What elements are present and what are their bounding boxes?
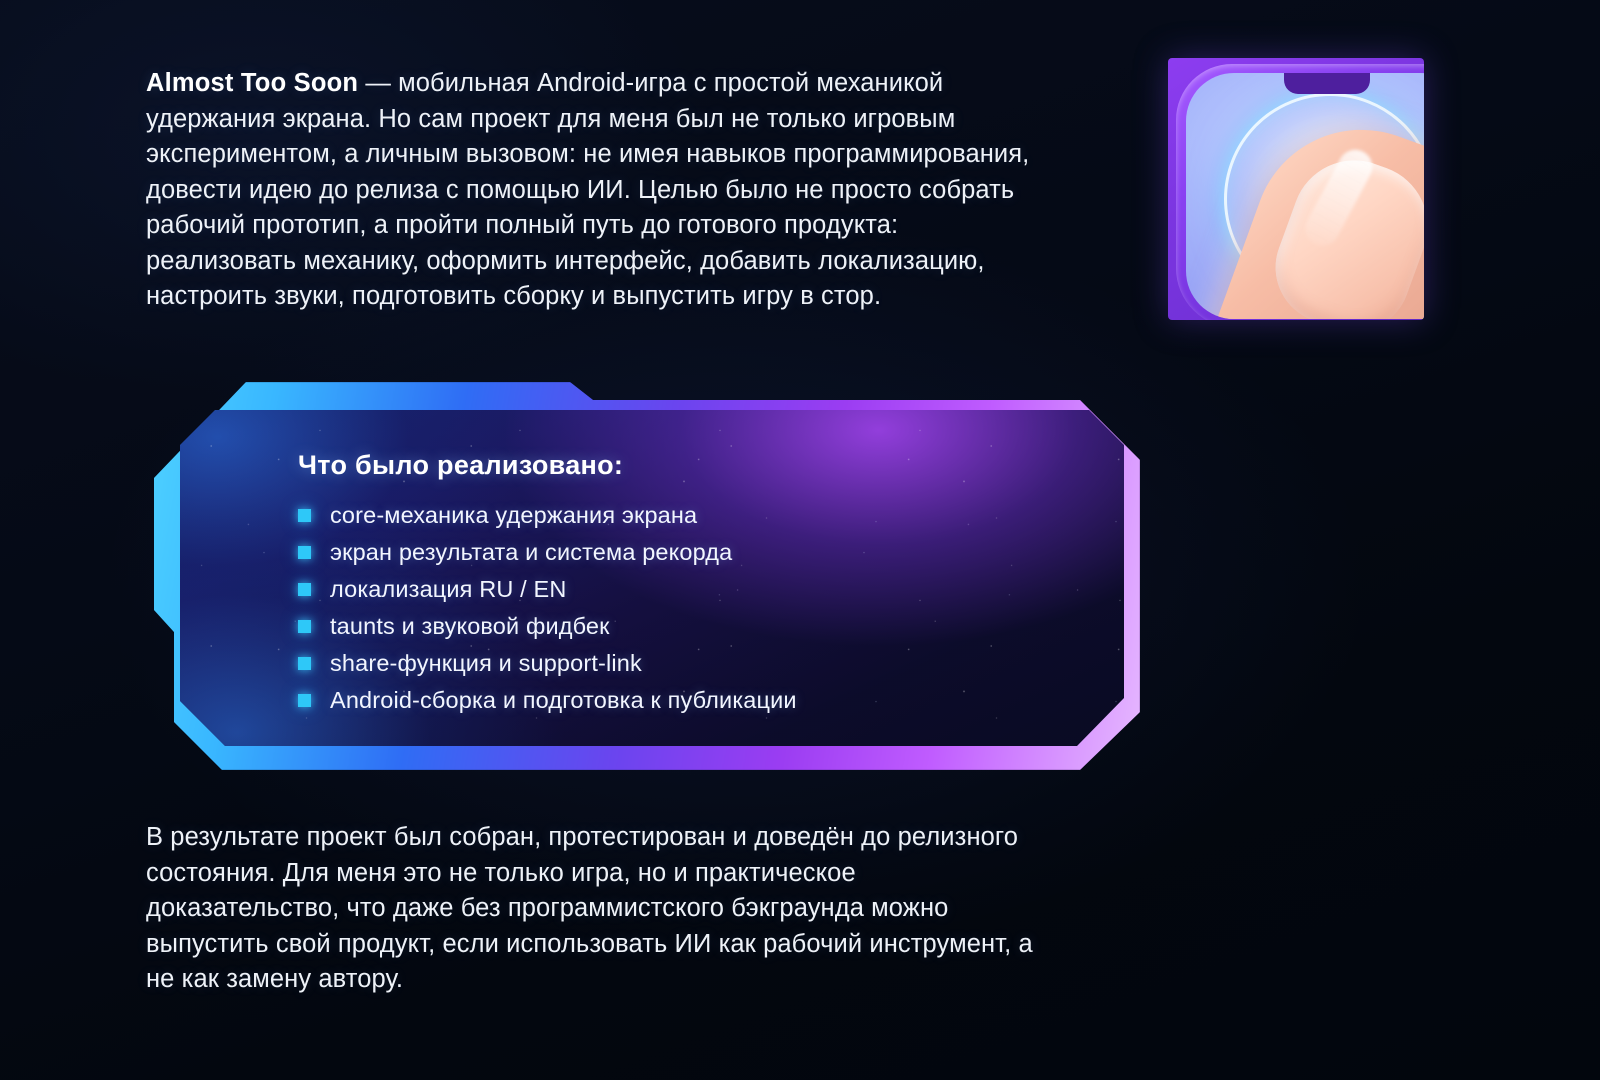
bullet-square-icon [298, 657, 311, 670]
list-item: core-механика удержания экрана [298, 497, 1058, 533]
list-item: локализация RU / EN [298, 571, 1058, 607]
phone-body-icon [1176, 64, 1424, 320]
outro-text: В результате проект был собран, протести… [146, 820, 1046, 998]
feature-label: экран результата и система рекорда [330, 538, 732, 566]
bullet-square-icon [298, 620, 311, 633]
intro-text: Almost Too Soon — мобильная Android-игра… [146, 66, 1046, 315]
list-item: share-функция и support-link [298, 645, 1058, 681]
slide-root: Almost Too Soon — мобильная Android-игра… [0, 0, 1600, 1080]
bullet-square-icon [298, 546, 311, 559]
project-title: Almost Too Soon [146, 69, 358, 97]
phone-notch-icon [1284, 73, 1370, 94]
phone-screen-icon [1186, 73, 1424, 319]
card-content: Что было реализовано: core-механика удер… [298, 450, 1058, 719]
feature-label: локализация RU / EN [330, 575, 566, 603]
bullet-square-icon [298, 694, 311, 707]
intro-paragraph: Almost Too Soon — мобильная Android-игра… [146, 66, 1046, 315]
feature-label: share-функция и support-link [330, 649, 642, 677]
feature-list: core-механика удержания экрана экран рез… [298, 497, 1058, 718]
app-icon [1168, 58, 1424, 320]
feature-label: Android-сборка и подготовка к публикации [330, 686, 797, 714]
feature-label: core-механика удержания экрана [330, 501, 697, 529]
list-item: экран результата и система рекорда [298, 534, 1058, 570]
features-card: Что было реализовано: core-механика удер… [150, 382, 1140, 770]
outro-paragraph: В результате проект был собран, протести… [146, 820, 1046, 998]
bullet-square-icon [298, 583, 311, 596]
bullet-square-icon [298, 509, 311, 522]
list-item: Android-сборка и подготовка к публикации [298, 682, 1058, 718]
feature-label: taunts и звуковой фидбек [330, 612, 610, 640]
intro-body: — мобильная Android-игра с простой механ… [146, 69, 1029, 310]
list-item: taunts и звуковой фидбек [298, 608, 1058, 644]
card-title: Что было реализовано: [298, 450, 1058, 481]
